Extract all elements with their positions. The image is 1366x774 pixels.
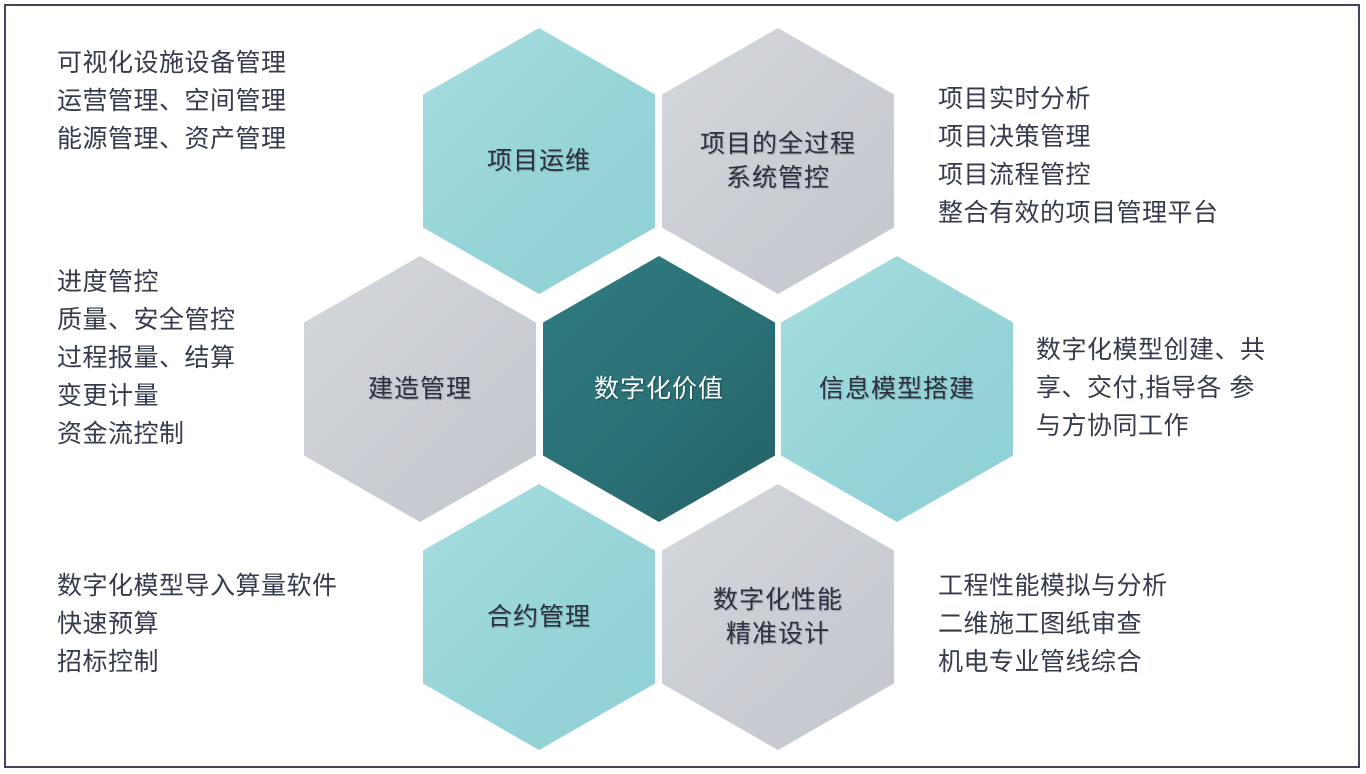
hexagon-digital-value-center[interactable]: 数字化价值	[543, 256, 775, 522]
hexagon-full-process-system-control[interactable]: 项目的全过程 系统管控	[662, 28, 894, 294]
note-full-process-system-control: 项目实时分析 项目决策管理 项目流程管控 整合有效的项目管理平台	[938, 80, 1338, 232]
hexagon-digital-performance-design[interactable]: 数字化性能 精准设计	[662, 484, 894, 750]
hexagon-label: 建造管理	[368, 372, 472, 406]
hexagon-construction-management[interactable]: 建造管理	[304, 256, 536, 522]
note-construction-management: 进度管控 质量、安全管控 过程报量、结算 变更计量 资金流控制	[57, 263, 337, 453]
note-project-operation: 可视化设施设备管理 运营管理、空间管理 能源管理、资产管理	[57, 44, 397, 158]
hexagon-label: 项目运维	[487, 144, 591, 178]
hexagon-diagram: 项目运维 项目的全过程 系统管控 建造管理 数字化价值 信息模型搭建 合约管理 …	[0, 0, 1366, 774]
note-information-model-building: 数字化模型创建、共 享、交付,指导各 参 与方协同工作	[1036, 331, 1316, 445]
hexagon-label: 数字化性能 精准设计	[713, 583, 843, 651]
hexagon-label: 项目的全过程 系统管控	[700, 127, 856, 195]
hexagon-contract-management[interactable]: 合约管理	[423, 484, 655, 750]
hexagon-information-model-building[interactable]: 信息模型搭建	[781, 256, 1013, 522]
note-digital-performance-design: 工程性能模拟与分析 二维施工图纸审查 机电专业管线综合	[938, 567, 1278, 681]
hexagon-label: 数字化价值	[594, 372, 724, 406]
hexagon-label: 合约管理	[487, 600, 591, 634]
hexagon-project-operation[interactable]: 项目运维	[423, 28, 655, 294]
hexagon-label: 信息模型搭建	[819, 372, 975, 406]
note-contract-management: 数字化模型导入算量软件 快速预算 招标控制	[57, 567, 427, 681]
